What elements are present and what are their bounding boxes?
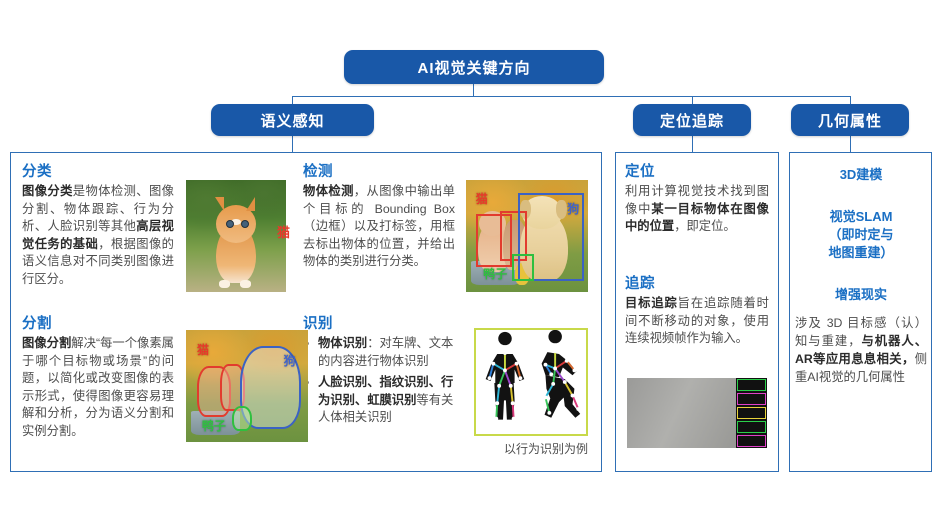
root-node-ai-vision[interactable]: AI视觉关键方向 <box>344 50 604 84</box>
section-tracking: 追踪 目标追踪旨在追踪随着时间不断移动的对象，使用连续视频帧作为输入。 <box>625 272 769 348</box>
kitten-paw-right <box>240 280 251 288</box>
branch-node-label-semantic: 语义感知 <box>260 110 324 131</box>
segmentation-label-dog: 狗 <box>284 352 296 369</box>
pose-figure-standing <box>486 332 525 421</box>
connector-horizontal-bus <box>292 96 851 97</box>
recognition-bullet-0: 物体识别：对车牌、文本的内容进行物体识别 <box>303 335 463 370</box>
branch-node-geometry[interactable]: 几何属性 <box>791 104 909 136</box>
recognition-heading: 识别 <box>303 312 463 333</box>
tracking-thumb-1 <box>737 379 766 391</box>
section-segmentation: 分割 图像分割解决“每一个像素属于哪个目标物或场景”的问题，以简化或改变图像的表… <box>22 312 174 440</box>
pose-skeleton-svg <box>476 330 586 434</box>
branch-node-label-geometry: 几何属性 <box>818 110 882 131</box>
branch-node-tracking[interactable]: 定位追踪 <box>633 104 751 136</box>
kitten-ear-right <box>246 197 255 211</box>
tracking-heading: 追踪 <box>625 272 769 293</box>
classification-body: 图像分类是物体检测、图像分割、物体跟踪、行为分析、人脸识别等其他高层视觉任务的基… <box>22 183 174 288</box>
section-classification: 分类 图像分类是物体检测、图像分割、物体跟踪、行为分析、人脸识别等其他高层视觉任… <box>22 160 174 288</box>
tracking-thumb-5 <box>737 435 766 447</box>
pose-figure-running <box>542 330 581 418</box>
recognition-bullet-list: 物体识别：对车牌、文本的内容进行物体识别人脸识别、指纹识别、行为识别、虹膜识别等… <box>303 335 463 427</box>
kitten-eye-left <box>226 220 234 228</box>
section-recognition: 识别 物体识别：对车牌、文本的内容进行物体识别人脸识别、指纹识别、行为识别、虹膜… <box>303 312 463 431</box>
geometry-spacer-c <box>795 304 927 314</box>
kitten-paw-left <box>219 280 230 288</box>
pose-estimation-figure <box>474 328 588 436</box>
geometry-item-body-2: 涉及 3D 目标感（认）知与重建，与机器人、AR等应用息息相关，侧重AI视觉的几… <box>795 314 927 386</box>
branch-node-semantic[interactable]: 语义感知 <box>211 104 374 136</box>
root-node-label: AI视觉关键方向 <box>417 57 530 78</box>
kitten-photo-label-cat: 猫 <box>277 222 942 241</box>
tracking-thumb-2 <box>737 393 766 405</box>
detection-bbox-duck <box>512 254 534 281</box>
detection-label-dog: 狗 <box>567 200 579 217</box>
tracking-thumbnail-strip <box>736 378 767 448</box>
connector-semantic-to-panel <box>292 136 293 153</box>
pedestrian-tracking-photo <box>627 378 767 448</box>
section-geometry: 3D建模 视觉SLAM（即时定与地图重建） 增强现实 涉及 3D 目标感（认）知… <box>795 166 927 386</box>
section-detection: 检测 物体检测，从图像中输出单个目标的 Bounding Box（边框）以及打标… <box>303 160 455 271</box>
localization-heading: 定位 <box>625 160 769 181</box>
geometry-item-title-0: 3D建模 <box>795 166 927 184</box>
detection-photo: 猫 狗 鸭子 <box>466 180 588 292</box>
connector-tracking-to-panel <box>692 136 693 153</box>
segmentation-body: 图像分割解决“每一个像素属于哪个目标物或场景”的问题，以简化或改变图像的表示形式… <box>22 335 174 440</box>
geometry-item-title-2: 增强现实 <box>795 286 927 304</box>
segmentation-label-cat: 猫 <box>197 341 209 358</box>
detection-label-cat: 猫 <box>476 190 488 207</box>
geometry-spacer-a <box>795 184 927 208</box>
branch-node-label-tracking: 定位追踪 <box>660 110 724 131</box>
detection-label-duck: 鸭子 <box>483 265 507 282</box>
diagram-canvas: AI视觉关键方向 语义感知 定位追踪 几何属性 分类 图像分类是物体检测、图像分… <box>0 0 942 529</box>
connector-geometry-to-panel <box>850 136 851 153</box>
segmentation-heading: 分割 <box>22 312 174 333</box>
kitten-eye-right <box>241 220 249 228</box>
geometry-spacer-b <box>795 262 927 286</box>
segmentation-mask-duck <box>232 406 252 431</box>
kitten-ear-left <box>215 197 224 211</box>
detection-heading: 检测 <box>303 160 455 181</box>
tracking-thumb-3 <box>737 407 766 419</box>
classification-heading: 分类 <box>22 160 174 181</box>
tracking-body: 目标追踪旨在追踪随着时间不断移动的对象，使用连续视频帧作为输入。 <box>625 295 769 348</box>
segmentation-label-duck: 鸭子 <box>202 417 226 434</box>
pose-figure-caption: 以行为识别为例 <box>466 440 588 457</box>
tracking-thumb-4 <box>737 421 766 433</box>
segmentation-photo: 猫 狗 鸭子 <box>186 330 308 442</box>
kitten-photo <box>186 180 286 292</box>
recognition-bullet-1: 人脸识别、指纹识别、行为识别、虹膜识别等有关人体相关识别 <box>303 374 463 427</box>
